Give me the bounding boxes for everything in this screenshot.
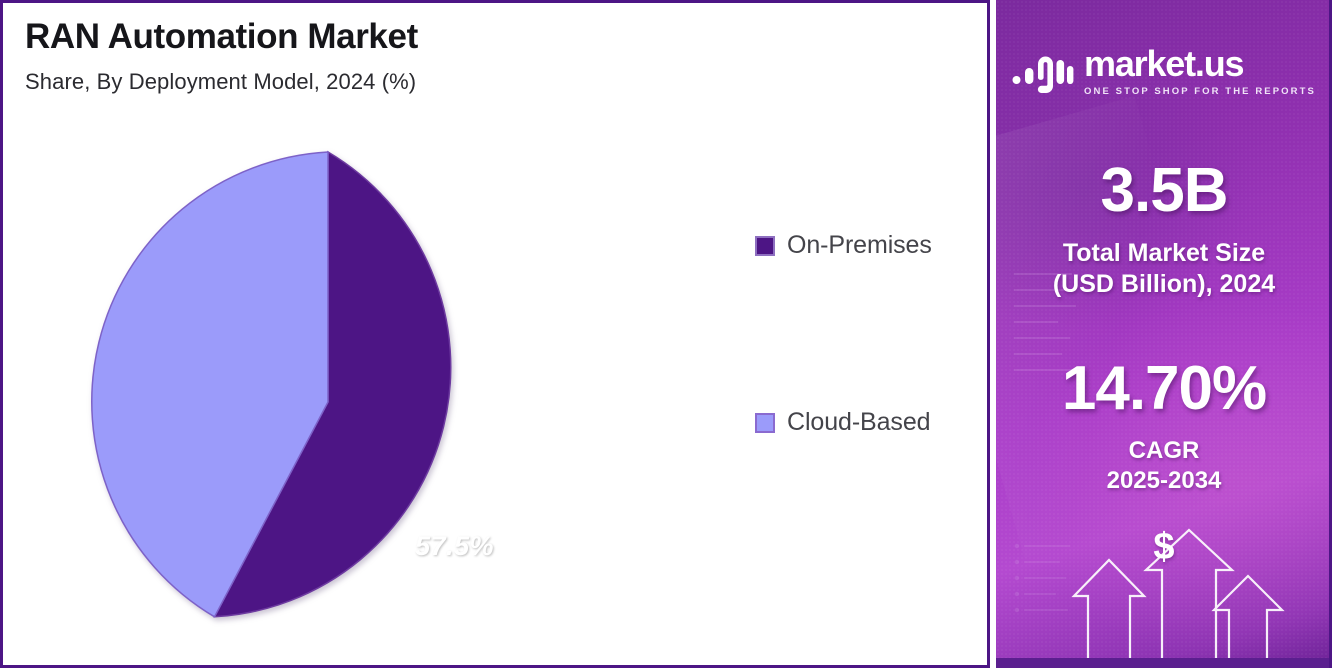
pie-chart-svg <box>75 149 581 655</box>
brand-name: market.us <box>1084 46 1316 82</box>
market-us-logo-icon <box>1012 50 1074 94</box>
stat-caption-market-size-line2: (USD Billion), 2024 <box>996 269 1332 300</box>
stat-value-cagr: 14.70% <box>996 358 1332 420</box>
three-up-arrows-icon <box>996 518 1332 668</box>
legend-item-on-premises[interactable]: On-Premises <box>755 231 970 260</box>
stat-caption-cagr: CAGR 2025-2034 <box>996 436 1332 496</box>
legend-label-cloud-based: Cloud-Based <box>787 408 930 437</box>
chart-header: RAN Automation Market Share, By Deployme… <box>25 17 418 95</box>
stat-cagr: 14.70% CAGR 2025-2034 <box>996 358 1332 496</box>
panel-bottom-bar <box>996 658 1332 668</box>
brand-logo-text: market.us ONE STOP SHOP FOR THE REPORTS <box>1084 46 1316 97</box>
infographic-page: RAN Automation Market Share, By Deployme… <box>0 0 1332 668</box>
pie-slice-label-on-premises: 57.5% <box>415 531 494 562</box>
stat-value-market-size: 3.5B <box>996 160 1332 222</box>
chart-legend: On-Premises Cloud-Based <box>755 231 970 437</box>
legend-item-cloud-based[interactable]: Cloud-Based <box>755 408 970 437</box>
stat-caption-market-size-line1: Total Market Size <box>996 238 1332 269</box>
legend-swatch-icon-on-premises <box>755 236 775 256</box>
stat-caption-cagr-line1: CAGR <box>996 436 1332 466</box>
page-subtitle: Share, By Deployment Model, 2024 (%) <box>25 69 418 95</box>
stat-caption-cagr-line2: 2025-2034 <box>996 466 1332 496</box>
brand-tagline: ONE STOP SHOP FOR THE REPORTS <box>1084 86 1316 97</box>
pie-chart: 57.5% <box>75 149 581 655</box>
legend-swatch-icon-cloud-based <box>755 413 775 433</box>
brand-logo[interactable]: market.us ONE STOP SHOP FOR THE REPORTS <box>996 46 1332 97</box>
page-title: RAN Automation Market <box>25 17 418 57</box>
stat-total-market-size: 3.5B Total Market Size (USD Billion), 20… <box>996 160 1332 301</box>
chart-panel: RAN Automation Market Share, By Deployme… <box>0 0 990 668</box>
stats-panel: market.us ONE STOP SHOP FOR THE REPORTS … <box>996 0 1332 668</box>
stat-caption-market-size: Total Market Size (USD Billion), 2024 <box>996 238 1332 301</box>
legend-label-on-premises: On-Premises <box>787 231 932 260</box>
